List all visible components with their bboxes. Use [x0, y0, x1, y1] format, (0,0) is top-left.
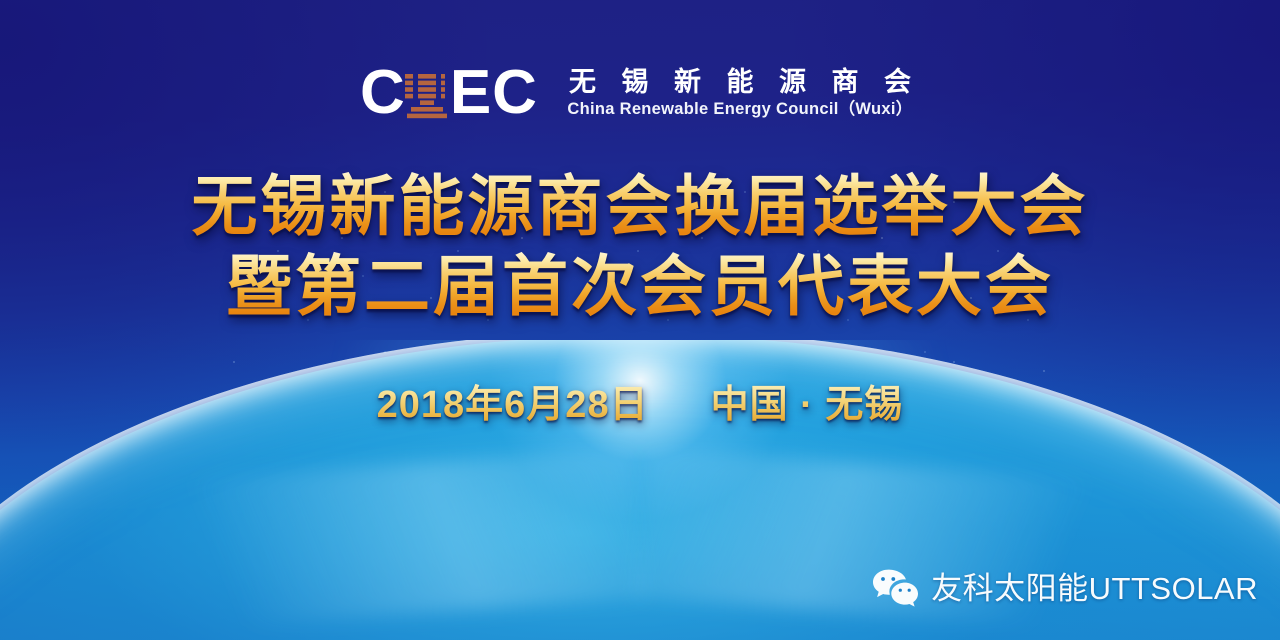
- wechat-account-name: 友科太阳能UTTSOLAR: [931, 573, 1258, 604]
- org-name-english: China Renewable Energy Council（Wuxi）: [567, 101, 912, 118]
- crec-wordmark: C: [360, 62, 538, 124]
- wechat-watermark: 友科太阳能UTTSOLAR: [872, 568, 1258, 608]
- event-info-row: 2018年6月28日 中国 · 无锡: [0, 373, 1280, 428]
- event-date: 2018年6月28日: [377, 373, 649, 428]
- event-location: 中国 · 无锡: [711, 373, 904, 428]
- headline-line-2: 暨第二届首次会员代表大会: [0, 250, 1280, 324]
- striped-r-icon: [401, 69, 453, 121]
- event-poster: C: [0, 0, 1280, 640]
- crec-letters-ec: EC: [450, 62, 538, 124]
- event-headline: 无锡新能源商会换届选举大会 暨第二届首次会员代表大会: [0, 170, 1280, 324]
- wechat-icon: [872, 568, 918, 608]
- org-name-chinese: 无 锡 新 能 源 商 会: [560, 69, 920, 96]
- headline-line-1: 无锡新能源商会换届选举大会: [0, 170, 1280, 244]
- crec-letter-c: C: [360, 62, 406, 124]
- crec-logo-lockup: C: [0, 62, 1280, 124]
- org-name-block: 无 锡 新 能 源 商 会 China Renewable Energy Cou…: [560, 69, 920, 118]
